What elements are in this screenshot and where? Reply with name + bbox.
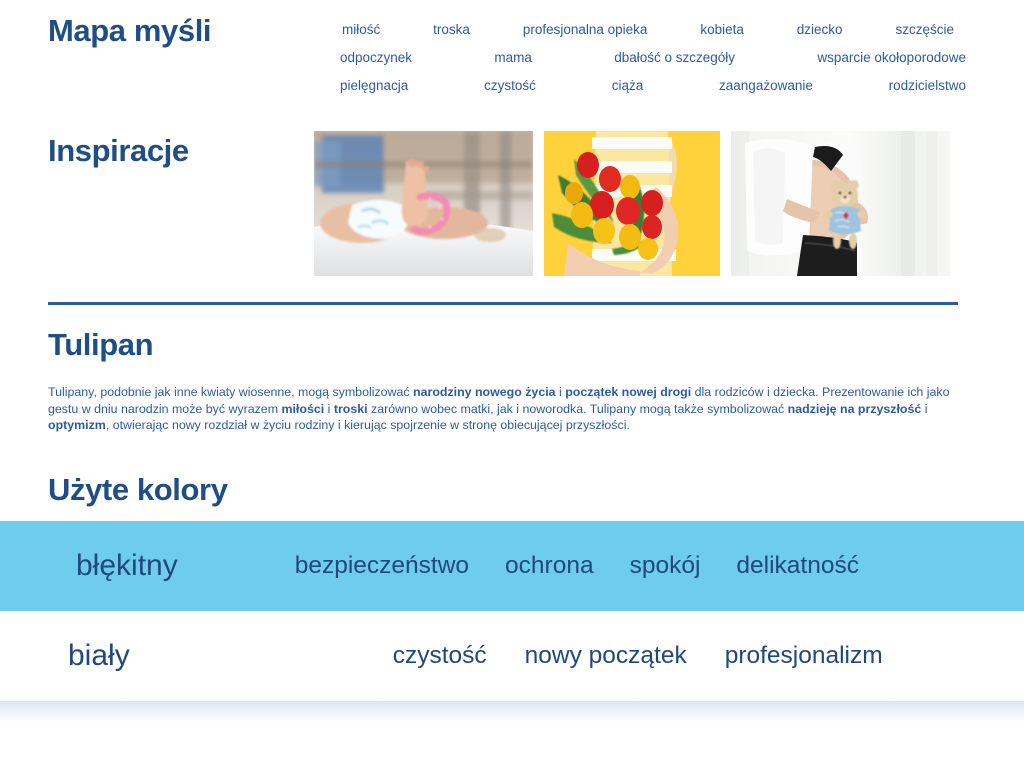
tag-item[interactable]: szczęście	[895, 22, 954, 37]
moodboard-page: Mapa myśli miłość troska profesjonalna o…	[0, 0, 1024, 768]
color-name-label: biały	[68, 639, 130, 673]
tag-item[interactable]: rodzicielstwo	[889, 78, 966, 93]
tag-item[interactable]: dbałość o szczegóły	[614, 50, 735, 65]
color-keyword[interactable]: profesjonalizm	[725, 642, 883, 670]
color-keyword[interactable]: ochrona	[505, 552, 594, 580]
tag-item[interactable]: czystość	[484, 78, 536, 93]
heading-used-colors: Użyte kolory	[48, 472, 228, 508]
paragraph-text: zarówno wobec matki, jak i noworodka. Tu…	[368, 402, 788, 416]
paragraph-emphasis: narodziny nowego życia	[413, 385, 556, 399]
newborn-baby-feet-hospital-bracelet-photo[interactable]	[314, 131, 533, 276]
tag-row: miłość troska profesjonalna opieka kobie…	[330, 22, 966, 37]
paragraph-emphasis: troski	[334, 402, 368, 416]
tag-row: odpoczynek mama dbałość o szczegóły wspa…	[330, 50, 966, 65]
mind-map-tag-cloud: miłość troska profesjonalna opieka kobie…	[330, 22, 966, 106]
inspiration-gallery	[314, 131, 950, 276]
tag-item[interactable]: ciąża	[612, 78, 644, 93]
page-bottom-shadow	[0, 701, 1024, 723]
paragraph-emphasis: optymizm	[48, 418, 106, 432]
color-keyword[interactable]: bezpieczeństwo	[295, 552, 469, 580]
color-band-blekitny: błękitny bezpieczeństwo ochrona spokój d…	[0, 521, 1024, 611]
color-band-bialy: biały czystość nowy początek profesjonal…	[0, 611, 1024, 701]
pregnant-woman-with-teddy-bear-photo[interactable]	[731, 131, 950, 276]
color-name-label: błękitny	[76, 549, 178, 583]
tag-item[interactable]: mama	[494, 50, 532, 65]
color-keyword[interactable]: spokój	[630, 552, 701, 580]
paragraph-text: i	[324, 402, 334, 416]
page-bottom-area	[0, 723, 1024, 768]
color-keywords: bezpieczeństwo ochrona spokój delikatnoś…	[295, 552, 859, 580]
tag-item[interactable]: kobieta	[700, 22, 744, 37]
paragraph-emphasis: miłości	[281, 402, 324, 416]
woman-holding-tulip-bouquet-photo[interactable]	[544, 131, 720, 276]
paragraph-emphasis: początek nowej drogi	[565, 385, 691, 399]
section-divider	[48, 302, 958, 305]
tag-item[interactable]: wsparcie okołoporodowe	[817, 50, 966, 65]
color-keyword[interactable]: nowy początek	[525, 642, 687, 670]
tag-item[interactable]: troska	[433, 22, 470, 37]
paragraph-text: i	[556, 385, 566, 399]
heading-tulip: Tulipan	[48, 327, 153, 363]
tag-item[interactable]: zaangażowanie	[719, 78, 813, 93]
paragraph-text: , otwierając nowy rozdział w życiu rodzi…	[106, 418, 630, 432]
paragraph-text: i	[921, 402, 927, 416]
color-keyword[interactable]: delikatność	[736, 552, 859, 580]
paragraph-text: Tulipany, podobnie jak inne kwiaty wiose…	[48, 385, 413, 399]
tulip-description-paragraph: Tulipany, podobnie jak inne kwiaty wiose…	[48, 384, 960, 433]
color-keyword[interactable]: czystość	[393, 642, 487, 670]
color-keywords: czystość nowy początek profesjonalizm	[393, 642, 883, 670]
tag-item[interactable]: pielęgnacja	[340, 78, 408, 93]
heading-mind-map: Mapa myśli	[48, 13, 211, 49]
tag-item[interactable]: profesjonalna opieka	[523, 22, 648, 37]
tag-item[interactable]: dziecko	[797, 22, 843, 37]
paragraph-emphasis: nadzieję na przyszłość	[788, 402, 922, 416]
tag-row: pielęgnacja czystość ciąża zaangażowanie…	[330, 78, 966, 93]
heading-inspirations: Inspiracje	[48, 133, 189, 169]
tag-item[interactable]: odpoczynek	[340, 50, 412, 65]
tag-item[interactable]: miłość	[342, 22, 380, 37]
